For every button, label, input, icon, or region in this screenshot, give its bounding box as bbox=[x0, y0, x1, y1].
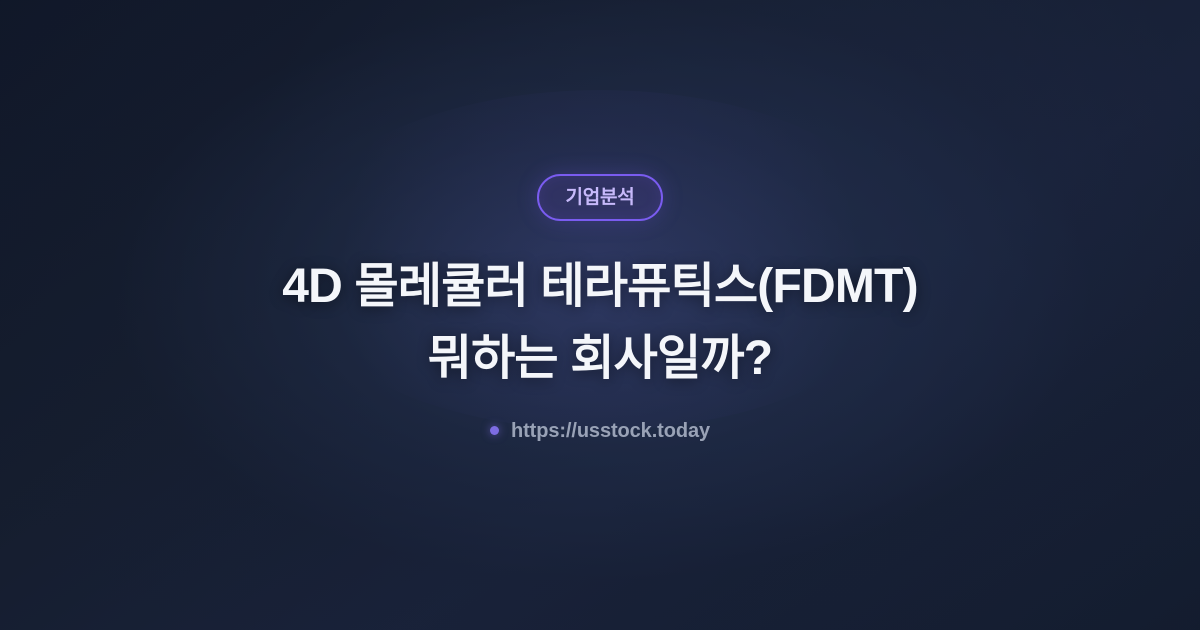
status-badge: 기업분석 bbox=[537, 174, 662, 221]
og-preview-card: 기업분석 4D 몰레큘러 테라퓨틱스(FDMT) 뭐하는 회사일까? https… bbox=[0, 0, 1200, 630]
card-content: 기업분석 4D 몰레큘러 테라퓨틱스(FDMT) 뭐하는 회사일까? https… bbox=[0, 174, 1200, 441]
site-url-label: https://usstock.today bbox=[511, 421, 710, 441]
site-url: https://usstock.today bbox=[490, 421, 710, 441]
dot-icon bbox=[490, 426, 499, 435]
page-title: 4D 몰레큘러 테라퓨틱스(FDMT) 뭐하는 회사일까? bbox=[282, 251, 918, 395]
